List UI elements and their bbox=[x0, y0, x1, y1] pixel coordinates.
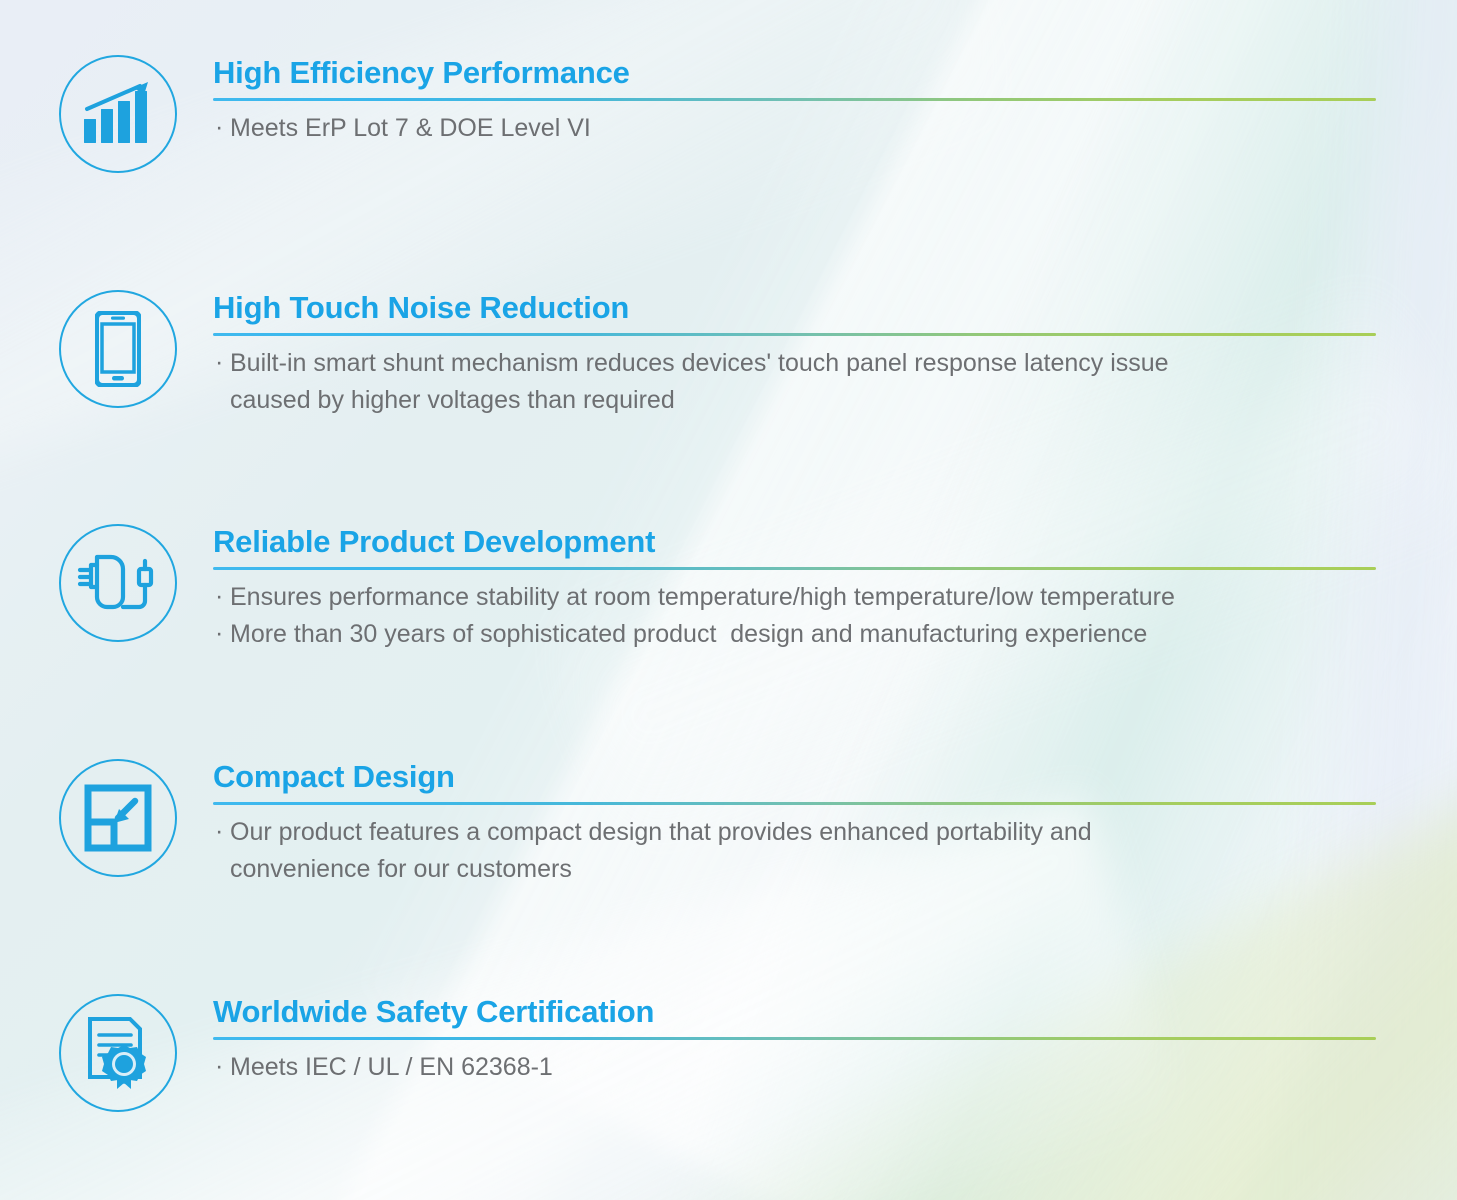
feature-title: Compact Design bbox=[213, 759, 1376, 795]
feature-text-block: Worldwide Safety Certification Meets IEC… bbox=[213, 994, 1376, 1086]
feature-text-block: High Touch Noise Reduction Built-in smar… bbox=[213, 290, 1376, 419]
feature-icon-container bbox=[59, 55, 179, 175]
feature-divider bbox=[213, 1037, 1376, 1040]
feature-bullet-list: Built-in smart shunt mechanism reduces d… bbox=[213, 345, 1376, 419]
feature-bullet-continuation: caused by higher voltages than required bbox=[213, 382, 1376, 419]
feature-divider bbox=[213, 802, 1376, 805]
feature-icon-container bbox=[59, 524, 179, 644]
feature-text-block: High Efficiency Performance Meets ErP Lo… bbox=[213, 55, 1376, 147]
feature-bullet: More than 30 years of sophisticated prod… bbox=[213, 616, 1376, 653]
feature-icon-container bbox=[59, 994, 179, 1114]
infographic-page: High Efficiency Performance Meets ErP Lo… bbox=[0, 0, 1457, 1200]
power-adapter-icon bbox=[59, 524, 177, 642]
feature-text-block: Reliable Product Development Ensures per… bbox=[213, 524, 1376, 653]
smartphone-icon bbox=[59, 290, 177, 408]
feature-title: Reliable Product Development bbox=[213, 524, 1376, 560]
feature-bullet: Our product features a compact design th… bbox=[213, 814, 1376, 851]
feature-title: Worldwide Safety Certification bbox=[213, 994, 1376, 1030]
feature-divider bbox=[213, 333, 1376, 336]
feature-bullet-continuation: convenience for our customers bbox=[213, 851, 1376, 888]
feature-title: High Efficiency Performance bbox=[213, 55, 1376, 91]
feature-icon-container bbox=[59, 290, 179, 410]
feature-text-block: Compact Design Our product features a co… bbox=[213, 759, 1376, 888]
feature-title: High Touch Noise Reduction bbox=[213, 290, 1376, 326]
certificate-award-icon bbox=[59, 994, 177, 1112]
feature-bullet: Ensures performance stability at room te… bbox=[213, 579, 1376, 616]
feature-bullet-list: Ensures performance stability at room te… bbox=[213, 579, 1376, 653]
feature-divider bbox=[213, 98, 1376, 101]
background-streak bbox=[486, 622, 1457, 1200]
feature-icon-container bbox=[59, 759, 179, 879]
feature-bullet: Built-in smart shunt mechanism reduces d… bbox=[213, 345, 1376, 382]
feature-bullet-list: Meets ErP Lot 7 & DOE Level VI bbox=[213, 110, 1376, 147]
feature-divider bbox=[213, 567, 1376, 570]
feature-bullet: Meets ErP Lot 7 & DOE Level VI bbox=[213, 110, 1376, 147]
feature-bullet: Meets IEC / UL / EN 62368-1 bbox=[213, 1049, 1376, 1086]
feature-bullet-list: Our product features a compact design th… bbox=[213, 814, 1376, 888]
feature-bullet-list: Meets IEC / UL / EN 62368-1 bbox=[213, 1049, 1376, 1086]
bar-chart-growth-icon bbox=[59, 55, 177, 173]
compact-resize-icon bbox=[59, 759, 177, 877]
